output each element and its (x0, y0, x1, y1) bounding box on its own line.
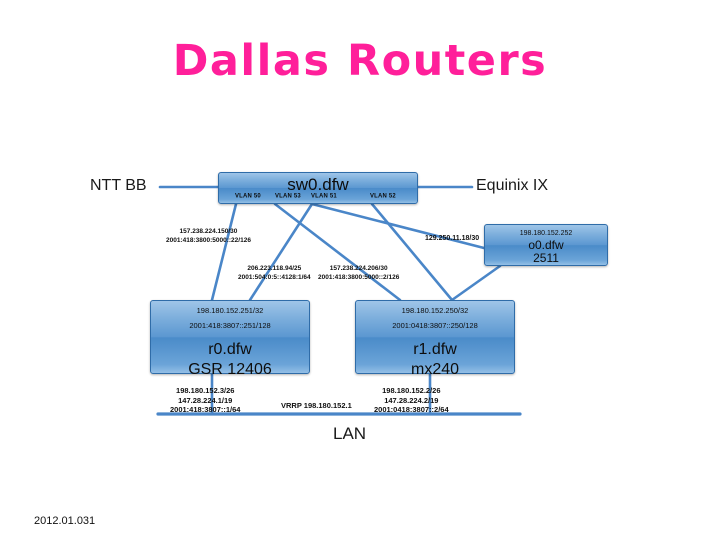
lan-note-r1-line2: 147.28.224.2/19 (374, 396, 449, 406)
lan-note-r0: 198.180.152.3/26 147.28.224.1/19 2001:41… (170, 386, 240, 415)
vlan-label-53: VLAN 53 (275, 193, 301, 199)
r0-ipv6: 2001:418:3807::251/128 (151, 316, 309, 331)
device-r1[interactable]: 198.180.152.250/32 2001:0418:3807::250/1… (355, 300, 515, 374)
link-note-ix-ipv6: 2001:504:0:5::4128:1/64 (238, 274, 311, 283)
lan-note-r1-line3: 2001:0418:3807::2/64 (374, 405, 449, 415)
link-note-o0-ipv4: 129.250.11.18/30 (425, 235, 479, 244)
lan-note-r1-line1: 198.180.152.2/26 (374, 386, 449, 396)
link-note-ntt-r0: 157.238.224.150/30 2001:418:3800:5000::2… (166, 228, 251, 245)
link-vlan53-r1 (275, 204, 400, 300)
link-note-ntt-r0-ipv4: 157.238.224.150/30 (166, 228, 251, 237)
lan-note-r0-line2: 147.28.224.1/19 (170, 396, 240, 406)
device-r0[interactable]: 198.180.152.251/32 2001:418:3807::251/12… (150, 300, 310, 374)
slide-canvas: Dallas Routers (0, 0, 720, 540)
vlan-label-52: VLAN 52 (370, 193, 396, 199)
r1-ipv4: 198.180.152.250/32 (356, 301, 514, 316)
lan-note-vrrp: VRRP 198.180.152.1 (281, 401, 352, 411)
r0-name: r0.dfw (151, 331, 309, 360)
edge-label-ntt-bb: NTT BB (90, 177, 147, 195)
lan-note-r1: 198.180.152.2/26 147.28.224.2/19 2001:04… (374, 386, 449, 415)
o0-ip: 198.180.152.252 (485, 225, 607, 239)
link-note-ix-ipv4: 206.223.118.94/25 (238, 265, 311, 274)
sw0-name: sw0.dfw (219, 173, 417, 195)
device-o0[interactable]: 198.180.152.252 o0.dfw 2511 (484, 224, 608, 266)
lan-note-r0-line1: 198.180.152.3/26 (170, 386, 240, 396)
edge-label-equinix-ix: Equinix IX (476, 177, 548, 195)
o0-model: 2511 (485, 252, 607, 265)
link-vlan50-r0 (212, 204, 236, 300)
link-vlan51-r0 (250, 204, 312, 300)
r0-model: GSR 12406 (151, 360, 309, 379)
link-note-ntt-r1: 157.238.224.206/30 2001:418:3800:5000::2… (318, 265, 399, 282)
r1-model: mx240 (356, 360, 514, 379)
edge-label-lan: LAN (333, 424, 366, 444)
link-note-equinix-ix: 206.223.118.94/25 2001:504:0:5::4128:1/6… (238, 265, 311, 282)
page-title: Dallas Routers (0, 36, 720, 86)
r0-ipv4: 198.180.152.251/32 (151, 301, 309, 316)
link-o0-to-r1 (452, 266, 500, 300)
link-note-ntt-r0-ipv6: 2001:418:3800:5000::22/126 (166, 237, 251, 246)
r1-name: r1.dfw (356, 331, 514, 360)
link-note-ntt-r1-ipv6: 2001:418:3800:5000::2/126 (318, 274, 399, 283)
device-sw0[interactable]: sw0.dfw VLAN 50 VLAN 53 VLAN 51 VLAN 52 (218, 172, 418, 204)
link-vlan52-r1 (372, 204, 452, 300)
link-note-o0: 129.250.11.18/30 (425, 235, 479, 244)
vlan-port-row: VLAN 50 VLAN 53 VLAN 51 VLAN 52 (219, 193, 417, 205)
vlan-label-51: VLAN 51 (311, 193, 337, 199)
vlan-label-50: VLAN 50 (235, 193, 261, 199)
r1-ipv6: 2001:0418:3807::250/128 (356, 316, 514, 331)
link-note-ntt-r1-ipv4: 157.238.224.206/30 (318, 265, 399, 274)
lan-note-r0-line3: 2001:418:3807::1/64 (170, 405, 240, 415)
footer-date: 2012.01.031 (34, 515, 95, 527)
